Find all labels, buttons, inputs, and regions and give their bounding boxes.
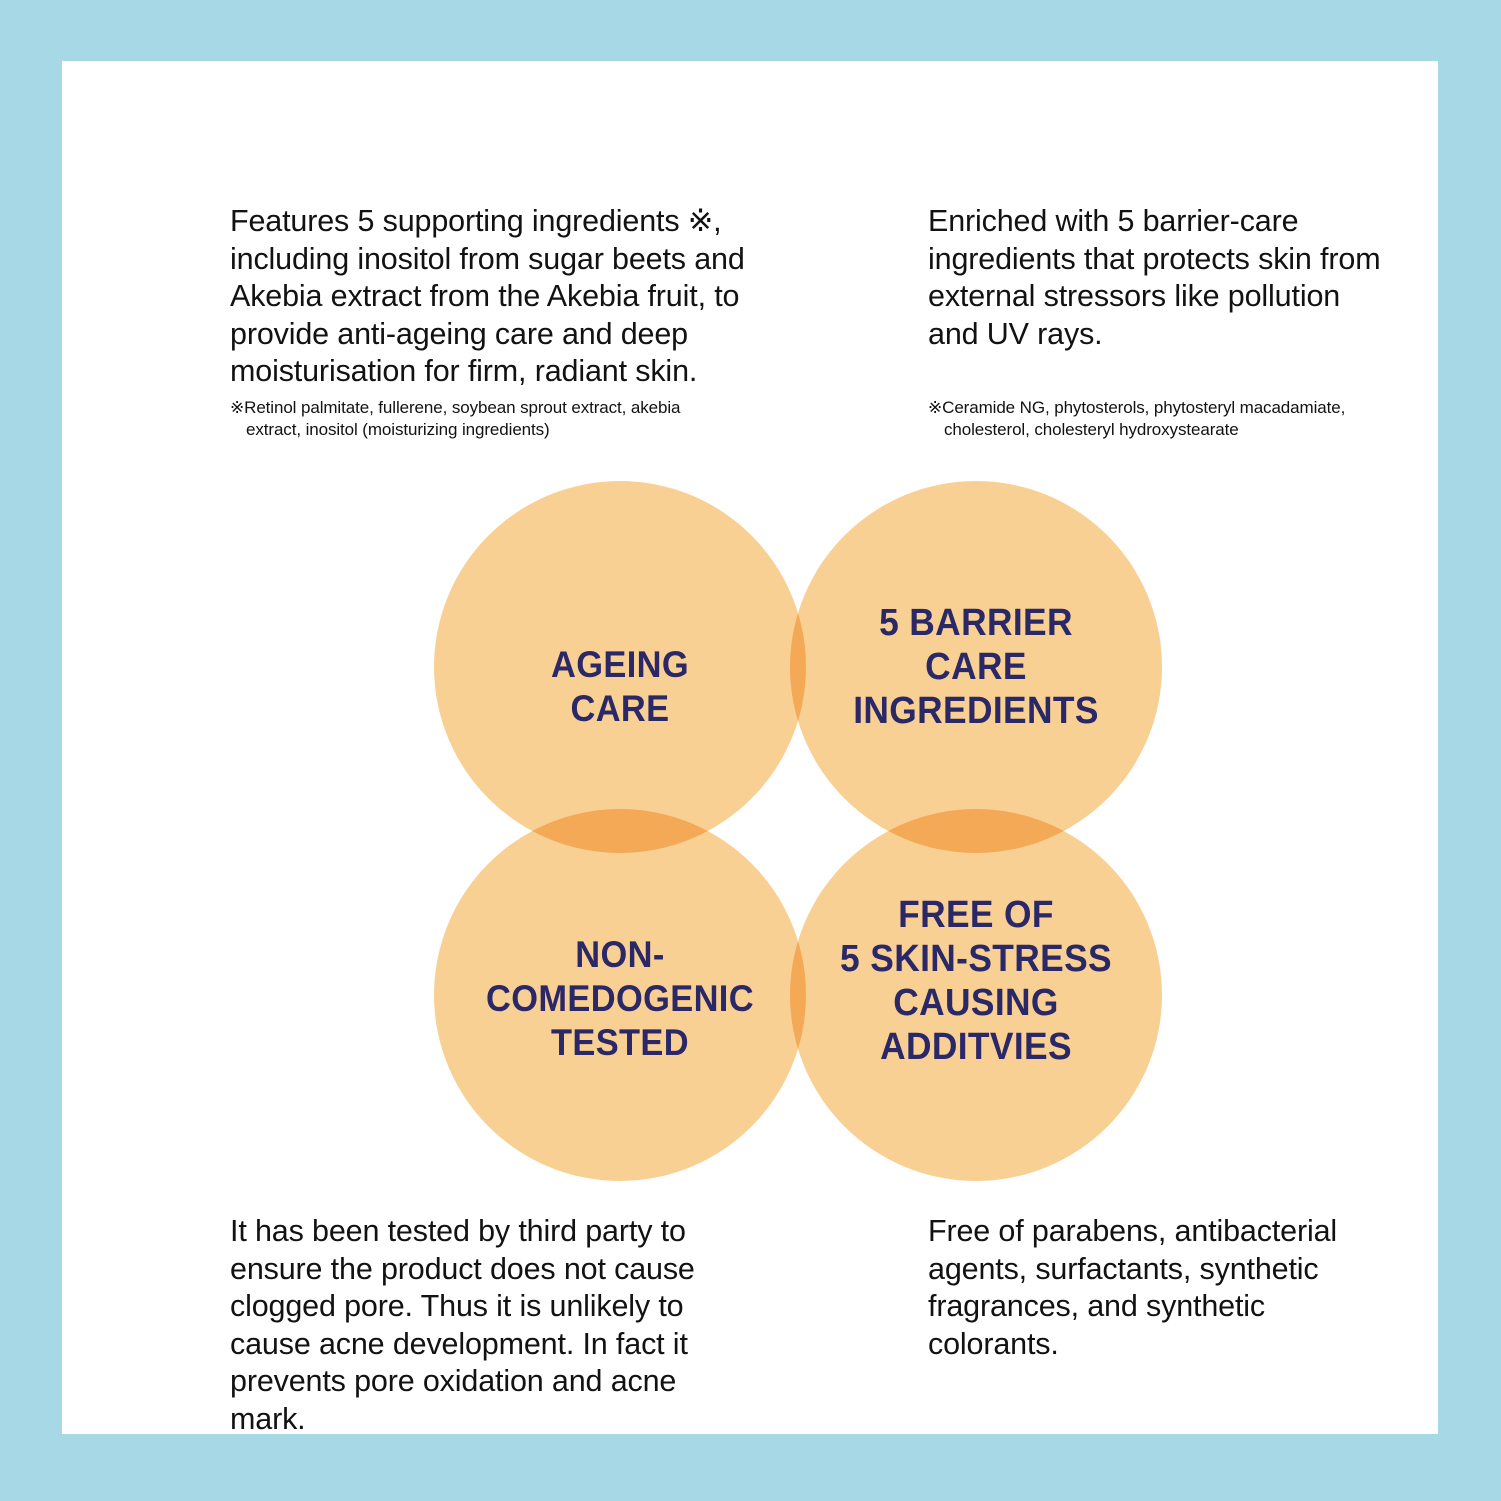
top-left-paragraph: Features 5 supporting ingredients ※, inc…: [230, 203, 830, 391]
venn-circle-non-comedogenic-tested: [434, 809, 806, 1181]
venn-circle-barrier-care-ingredients: [790, 481, 1162, 853]
top-left-footnote-line1: ※Retinol palmitate, fullerene, soybean s…: [230, 398, 680, 417]
top-right-footnote-line1: ※Ceramide NG, phytosterols, phytosteryl …: [928, 398, 1345, 417]
venn-circle-shapes: [434, 481, 1162, 1181]
bottom-right-paragraph: Free of parabens, antibacterial agents, …: [928, 1213, 1398, 1363]
top-left-footnote: ※Retinol palmitate, fullerene, soybean s…: [230, 397, 775, 441]
venn-diagram: AGEING CARE 5 BARRIER CARE INGREDIENTS N…: [434, 481, 1162, 1181]
top-left-footnote-line2: extract, inositol (moisturizing ingredie…: [230, 419, 775, 441]
top-right-paragraph: Enriched with 5 barrier-care ingredients…: [928, 203, 1398, 353]
bottom-left-paragraph: It has been tested by third party to ens…: [230, 1213, 750, 1438]
poster-root: Features 5 supporting ingredients ※, inc…: [0, 0, 1501, 1501]
top-right-footnote: ※Ceramide NG, phytosterols, phytosteryl …: [928, 397, 1418, 441]
top-right-footnote-line2: cholesterol, cholesteryl hydroxystearate: [928, 419, 1418, 441]
venn-circle-free-of-skin-stress-additives: [790, 809, 1162, 1181]
venn-circle-ageing-care: [434, 481, 806, 853]
white-panel: Features 5 supporting ingredients ※, inc…: [62, 61, 1438, 1434]
